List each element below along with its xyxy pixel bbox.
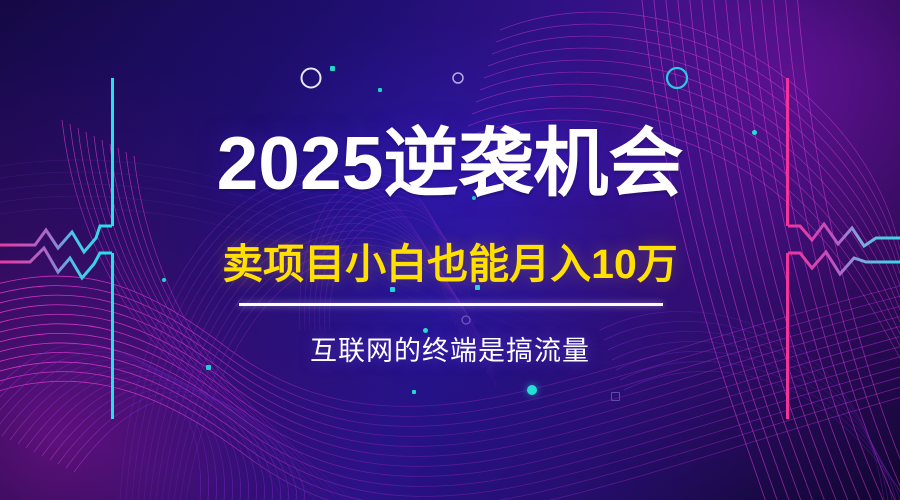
page-title: 2025逆袭机会 (0, 126, 900, 201)
title-divider (239, 303, 663, 306)
page-subtitle: 卖项目小白也能月入10万 (0, 244, 900, 285)
text-content: 2025逆袭机会 卖项目小白也能月入10万 互联网的终端是搞流量 (0, 0, 900, 500)
page-tagline: 互联网的终端是搞流量 (0, 338, 900, 365)
promo-banner: 2025逆袭机会 卖项目小白也能月入10万 互联网的终端是搞流量 (0, 0, 900, 500)
